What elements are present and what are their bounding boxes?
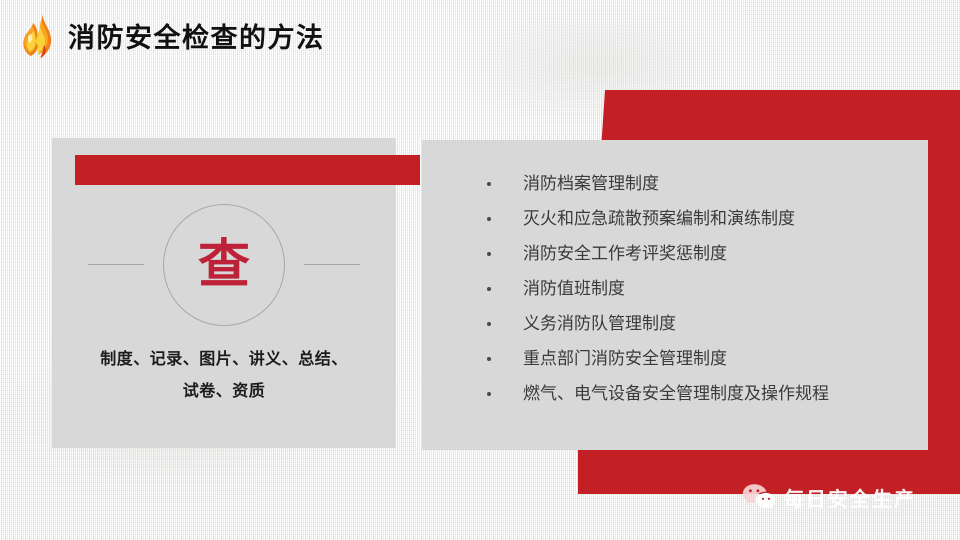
list-item-label: 消防安全工作考评奖惩制度 [523,244,727,263]
left-card-caption-line1: 制度、记录、图片、讲义、总结、 [62,344,386,376]
slide-header: 消防安全检查的方法 [0,0,960,75]
list-item: 消防档案管理制度 [422,166,928,201]
list-item-label: 消防档案管理制度 [523,174,659,193]
badge-character: 查 [163,204,285,326]
left-card-red-bar [75,155,420,185]
bullet-dot-icon [487,287,491,291]
slide-canvas: 消防安全检查的方法 查 制度、记录、图片、讲义、总结、 试卷、资质 消防档案管理… [0,0,960,540]
badge-line-right [304,264,360,265]
list-item-label: 燃气、电气设备安全管理制度及操作规程 [523,384,829,403]
list-item: 重点部门消防安全管理制度 [422,341,928,376]
flame-icon [14,12,60,66]
list-item: 消防安全工作考评奖惩制度 [422,236,928,271]
page-title: 消防安全检查的方法 [68,18,325,58]
watermark-label: 每日安全生产 [784,483,916,512]
list-item-label: 重点部门消防安全管理制度 [523,349,727,368]
policy-bullet-list: 消防档案管理制度 灭火和应急疏散预案编制和演练制度 消防安全工作考评奖惩制度 消… [422,166,928,411]
wechat-icon [742,483,776,511]
list-item-label: 灭火和应急疏散预案编制和演练制度 [523,209,795,228]
bullet-dot-icon [487,322,491,326]
left-card-caption-line2: 试卷、资质 [62,376,386,408]
bullet-dot-icon [487,217,491,221]
watermark: 每日安全生产 [742,480,916,514]
list-item-label: 义务消防队管理制度 [523,314,676,333]
badge-circle-group: 查 [52,198,396,333]
list-item: 消防值班制度 [422,271,928,306]
right-list-panel: 消防档案管理制度 灭火和应急疏散预案编制和演练制度 消防安全工作考评奖惩制度 消… [422,140,928,450]
badge-line-left [88,264,144,265]
list-item-label: 消防值班制度 [523,279,625,298]
bullet-dot-icon [487,392,491,396]
list-item: 灭火和应急疏散预案编制和演练制度 [422,201,928,236]
bullet-dot-icon [487,357,491,361]
bullet-dot-icon [487,252,491,256]
list-item: 燃气、电气设备安全管理制度及操作规程 [422,376,928,411]
bullet-dot-icon [487,182,491,186]
left-card-caption: 制度、记录、图片、讲义、总结、 试卷、资质 [62,344,386,408]
list-item: 义务消防队管理制度 [422,306,928,341]
